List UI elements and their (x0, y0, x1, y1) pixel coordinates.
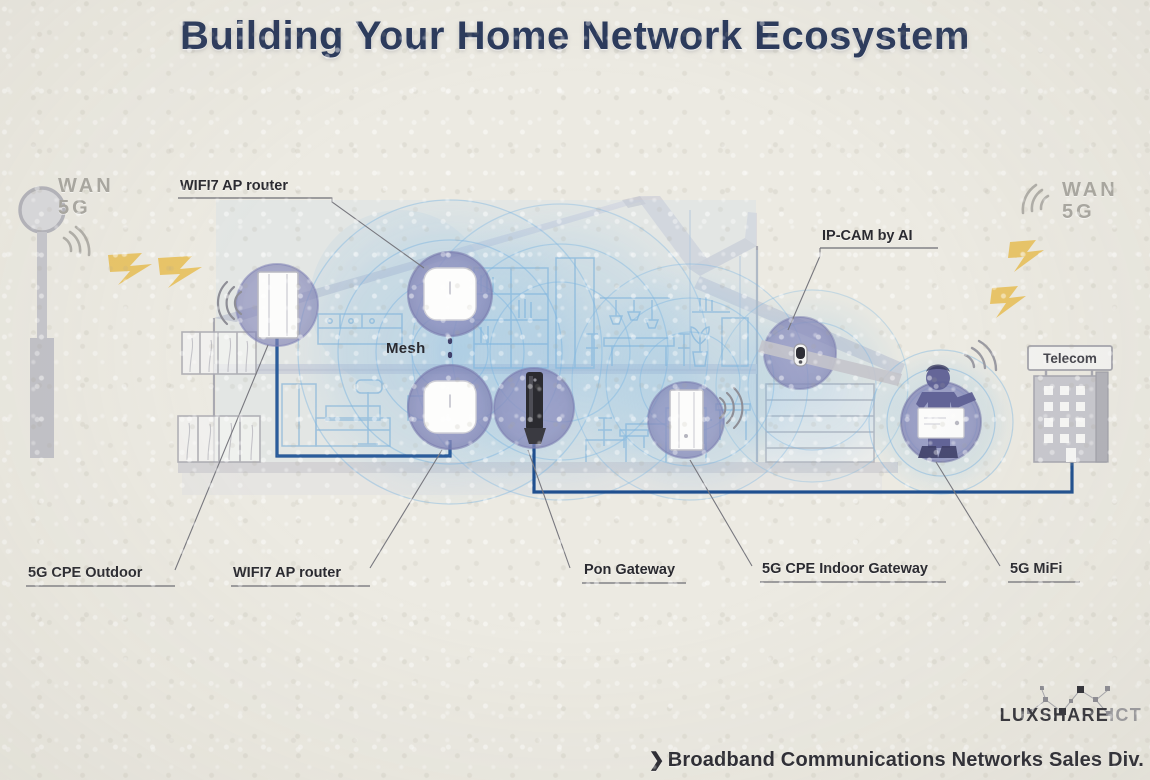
device-5g-cpe-indoor-gateway[interactable] (648, 382, 724, 458)
lightning-bolt-icon (990, 240, 1044, 318)
diagram-canvas: Telecom (0, 0, 1150, 780)
callout-5g-cpe-indoor-gateway[interactable]: 5G CPE Indoor Gateway (760, 561, 930, 579)
logo-suffix: ICT (1109, 705, 1142, 725)
footer-tagline: ❯Broadband Communications Networks Sales… (649, 749, 1144, 772)
callout-wifi7-ap-router-top[interactable]: WIFI7 AP router (178, 178, 290, 196)
callout-label: 5G CPE Indoor Gateway (760, 561, 930, 579)
device-5g-cpe-outdoor[interactable] (236, 264, 318, 346)
page-title: Building Your Home Network Ecosystem (0, 14, 1150, 59)
callout-pon-gateway[interactable]: Pon Gateway (582, 562, 677, 580)
device-wifi7-ap-upper[interactable] (408, 252, 492, 336)
callout-label: 5G MiFi (1008, 561, 1064, 579)
chevron-right-icon: ❯ (649, 750, 665, 771)
office-building-icon (1034, 366, 1108, 462)
callout-label: 5G CPE Outdoor (26, 565, 144, 583)
callout-label: Pon Gateway (582, 562, 677, 580)
wan-right-line2: 5G (1062, 202, 1118, 224)
lightning-bolt-icon (108, 253, 202, 288)
callout-label: WIFI7 AP router (178, 178, 290, 196)
wifi-arcs-icon-right-wan (1023, 185, 1048, 213)
telecom-sign-label: Telecom (1043, 351, 1097, 366)
callout-5g-cpe-outdoor[interactable]: 5G CPE Outdoor (26, 565, 144, 583)
luxshare-logo: LUXSHAREICT (1000, 705, 1142, 726)
mesh-label: Mesh (386, 340, 426, 357)
wan-left-line2: 5G (58, 198, 114, 220)
footer-tagline-text: Broadband Communications Networks Sales … (668, 749, 1144, 771)
wan-label-right: WAN 5G (1062, 180, 1118, 223)
callout-label: WIFI7 AP router (231, 565, 343, 583)
wan-right-line1: WAN (1062, 180, 1118, 202)
callout-ip-cam-by-ai[interactable]: IP-CAM by AI (820, 228, 915, 246)
wifi-arcs-icon-left-wan (64, 227, 89, 255)
callout-wifi7-ap-router-bottom[interactable]: WIFI7 AP router (231, 565, 343, 583)
logo-main: LUXSHARE (1000, 705, 1109, 725)
callout-label: IP-CAM by AI (820, 228, 915, 246)
device-pon-gateway[interactable] (494, 368, 574, 448)
logo-wordmark: LUXSHAREICT (1000, 705, 1142, 726)
wan-label-left: WAN 5G (58, 176, 114, 219)
antenna-pole-icon (20, 188, 64, 458)
balcony-upper (182, 332, 256, 374)
callout-5g-mifi[interactable]: 5G MiFi (1008, 561, 1064, 579)
device-wifi7-ap-lower[interactable] (408, 365, 492, 449)
balcony-lower (178, 416, 260, 462)
wan-left-line1: WAN (58, 176, 114, 198)
